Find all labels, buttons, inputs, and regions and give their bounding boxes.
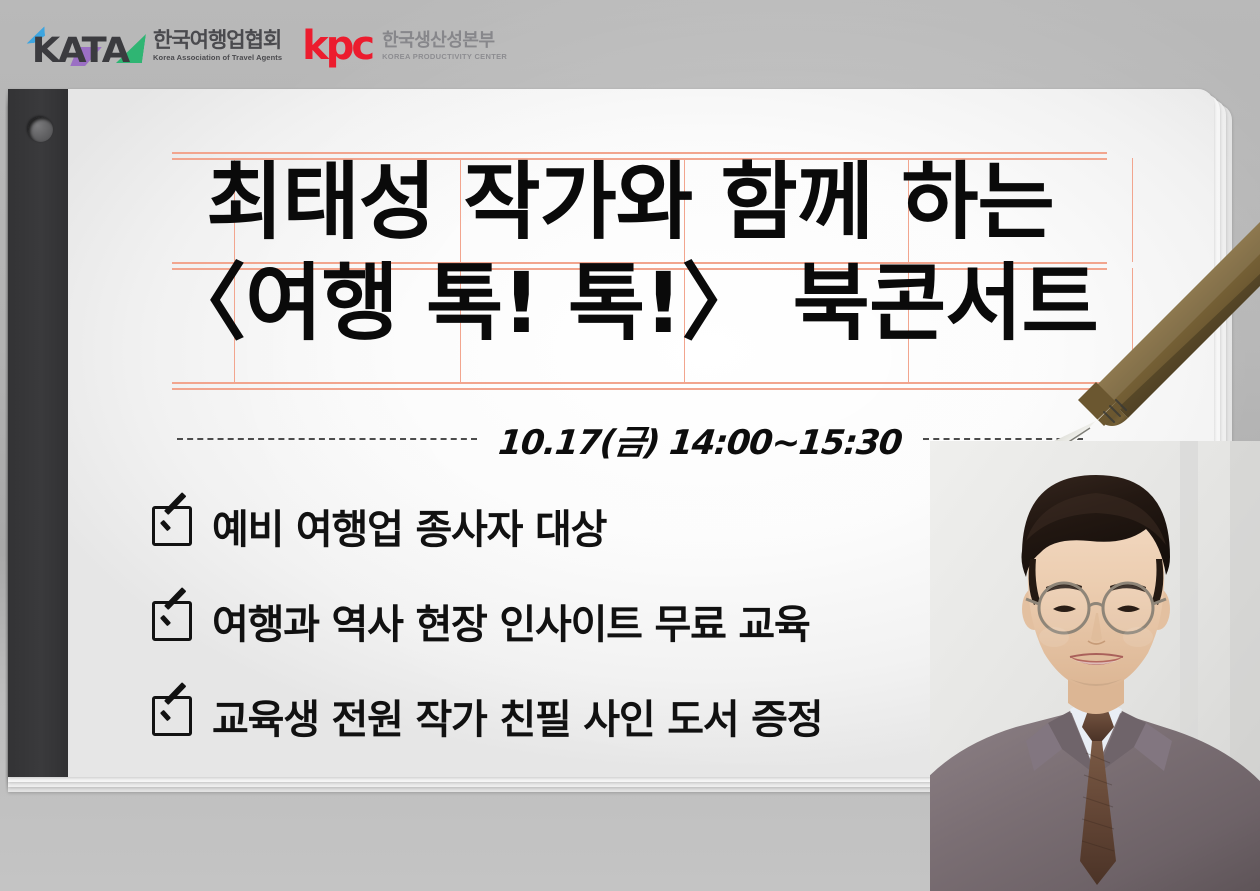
- kata-english-name: Korea Association of Travel Agents: [153, 54, 282, 62]
- grid-horizontal-line-4: [172, 268, 1107, 270]
- feature-bullet-label-2: 여행과 역사 현장 인사이트 무료 교육: [212, 592, 810, 650]
- checkbox-checked-icon: [152, 601, 192, 641]
- kpc-wordmark: kpc: [302, 26, 372, 66]
- grid-vertical-line-4-row-2: [908, 268, 909, 382]
- feature-bullet-label-1: 예비 여행업 종사자 대상: [212, 497, 606, 555]
- grid-vertical-line-2-row-2: [460, 268, 461, 382]
- grid-vertical-line-1-row-1: [234, 158, 235, 262]
- manuscript-grid: [172, 152, 1107, 388]
- kata-logo: KATA 한국여행업협회 Korea Association of Travel…: [26, 26, 282, 66]
- speaker-portrait-photo: [930, 441, 1260, 891]
- checkbox-checked-icon: [152, 506, 192, 546]
- feature-bullet-3: 교육생 전원 작가 친필 사인 도서 증정: [152, 687, 822, 745]
- grid-horizontal-line-3: [172, 262, 1107, 264]
- checkbox-checked-icon: [152, 696, 192, 736]
- grid-vertical-line-4-row-1: [908, 158, 909, 262]
- kata-korean-name: 한국여행업협회: [153, 30, 282, 51]
- poster-canvas: KATA 한국여행업협회 Korea Association of Travel…: [0, 0, 1260, 891]
- grid-vertical-line-3-row-1: [684, 158, 685, 262]
- grid-vertical-line-3-row-2: [684, 268, 685, 382]
- grid-horizontal-line-1: [172, 152, 1107, 154]
- grid-horizontal-line-5: [172, 382, 1107, 384]
- feature-bullet-list: 예비 여행업 종사자 대상여행과 역사 현장 인사이트 무료 교육교육생 전원 …: [152, 497, 822, 745]
- grid-vertical-line-1-row-2: [234, 268, 235, 382]
- grid-horizontal-line-6: [172, 388, 1107, 390]
- kata-text-block: 한국여행업협회 Korea Association of Travel Agen…: [153, 30, 282, 62]
- kpc-logo: kpc 한국생산성본부 KOREA PRODUCTIVITY CENTER: [302, 26, 507, 66]
- kata-wordmark: KATA: [32, 31, 128, 71]
- organization-logo-bar: KATA 한국여행업협회 Korea Association of Travel…: [26, 22, 507, 70]
- dashed-rule-left: [177, 438, 477, 440]
- feature-bullet-2: 여행과 역사 현장 인사이트 무료 교육: [152, 592, 822, 650]
- grid-vertical-line-2-row-1: [460, 158, 461, 262]
- schedule-text: 10.17(금) 14:00~15:30: [496, 415, 904, 464]
- kpc-english-name: KOREA PRODUCTIVITY CENTER: [382, 53, 507, 61]
- feature-bullet-label-3: 교육생 전원 작가 친필 사인 도서 증정: [212, 687, 822, 745]
- binder-hole-icon: [28, 117, 53, 142]
- feature-bullet-1: 예비 여행업 종사자 대상: [152, 497, 822, 555]
- grid-horizontal-line-2: [172, 158, 1107, 160]
- kpc-korean-name: 한국생산성본부: [382, 32, 507, 50]
- kata-swoosh-icon: KATA: [26, 26, 144, 66]
- kpc-text-block: 한국생산성본부 KOREA PRODUCTIVITY CENTER: [382, 32, 507, 61]
